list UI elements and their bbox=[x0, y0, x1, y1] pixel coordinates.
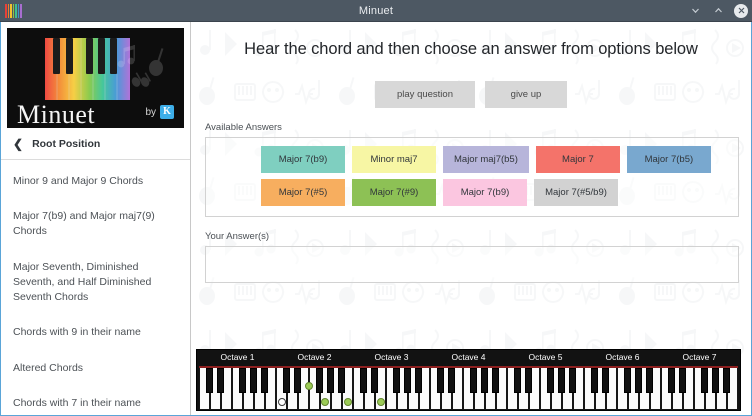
piano-key-marker bbox=[305, 382, 313, 390]
piano-key-marker bbox=[344, 398, 352, 406]
piano-black-key[interactable] bbox=[327, 368, 334, 393]
piano-black-key[interactable] bbox=[437, 368, 444, 393]
piano-black-key[interactable] bbox=[338, 368, 345, 393]
piano-black-key[interactable] bbox=[393, 368, 400, 393]
answer-row-0: Major 7(b9)Minor maj7Major maj7(b5)Major… bbox=[214, 146, 730, 173]
piano-black-key[interactable] bbox=[514, 368, 521, 393]
piano-black-key[interactable] bbox=[602, 368, 609, 393]
piano-black-key[interactable] bbox=[712, 368, 719, 393]
logo-wordmark: Minuet bbox=[17, 100, 95, 128]
answer-chip[interactable]: Major 7 bbox=[536, 146, 620, 173]
window-body: Minuet by K ❮ Root Position Minor 9 and … bbox=[0, 22, 752, 416]
application-window: Minuet bbox=[0, 0, 752, 416]
your-answers-label: Your Answer(s) bbox=[205, 231, 739, 242]
sidebar-header-title: Root Position bbox=[32, 138, 100, 150]
piano-black-key[interactable] bbox=[261, 368, 268, 393]
available-answers-box[interactable]: Major 7(b9)Minor maj7Major maj7(b5)Major… bbox=[205, 137, 739, 217]
minimize-icon[interactable] bbox=[688, 4, 702, 18]
chevron-left-icon[interactable]: ❮ bbox=[13, 138, 23, 150]
page-title: Hear the chord and then choose an answer… bbox=[191, 22, 751, 59]
available-answers-label: Available Answers bbox=[205, 122, 739, 133]
piano-black-key[interactable] bbox=[646, 368, 653, 393]
window-title: Minuet bbox=[0, 5, 752, 17]
music-decoration-icon bbox=[112, 42, 174, 90]
sidebar-item-label: Major 7(b9) and Major maj7(9) Chords bbox=[13, 210, 155, 237]
sidebar: Minuet by K ❮ Root Position Minor 9 and … bbox=[1, 22, 191, 415]
give-up-button[interactable]: give up bbox=[485, 81, 567, 108]
answer-chip[interactable]: Major 7(b9) bbox=[443, 179, 527, 206]
answer-chip[interactable]: Major 7(b5) bbox=[627, 146, 711, 173]
sidebar-item-label: Major Seventh, Diminished Seventh, and H… bbox=[13, 261, 151, 303]
logo-by-kde: by K bbox=[145, 105, 174, 119]
piano-black-key[interactable] bbox=[481, 368, 488, 393]
piano-black-key[interactable] bbox=[250, 368, 257, 393]
sidebar-item-3[interactable]: Chords with 9 in their name bbox=[1, 315, 190, 350]
sidebar-item-1[interactable]: Major 7(b9) and Major maj7(9) Chords bbox=[1, 199, 190, 249]
piano-black-key[interactable] bbox=[723, 368, 730, 393]
answer-chip[interactable]: Major maj7(b5) bbox=[443, 146, 529, 173]
piano-black-key[interactable] bbox=[239, 368, 246, 393]
answer-chip[interactable]: Minor maj7 bbox=[352, 146, 436, 173]
piano-black-key[interactable] bbox=[635, 368, 642, 393]
window-controls bbox=[688, 4, 748, 18]
piano-black-key[interactable] bbox=[492, 368, 499, 393]
kde-logo-icon: K bbox=[160, 105, 174, 119]
sidebar-item-label: Chords with 7 in their name bbox=[13, 397, 141, 409]
sidebar-item-label: Chords with 9 in their name bbox=[13, 326, 141, 338]
close-icon[interactable] bbox=[734, 4, 748, 18]
answer-chip[interactable]: Major 7(b9) bbox=[261, 146, 345, 173]
answer-chip[interactable]: Major 7(#5) bbox=[261, 179, 345, 206]
piano-black-key[interactable] bbox=[294, 368, 301, 393]
piano-black-key[interactable] bbox=[668, 368, 675, 393]
piano-black-key[interactable] bbox=[360, 368, 367, 393]
piano-black-key[interactable] bbox=[470, 368, 477, 393]
piano-black-key[interactable] bbox=[547, 368, 554, 393]
action-buttons: play question give up bbox=[191, 81, 751, 108]
piano-black-key[interactable] bbox=[371, 368, 378, 393]
your-answers-section: Your Answer(s) bbox=[205, 231, 739, 283]
piano-key-marker bbox=[278, 398, 286, 406]
piano-black-key[interactable] bbox=[217, 368, 224, 393]
piano-black-key[interactable] bbox=[448, 368, 455, 393]
maximize-icon[interactable] bbox=[711, 4, 725, 18]
piano-black-key[interactable] bbox=[283, 368, 290, 393]
sidebar-item-label: Minor 9 and Major 9 Chords bbox=[13, 175, 143, 187]
title-bar: Minuet bbox=[0, 0, 752, 22]
piano-black-key[interactable] bbox=[206, 368, 213, 393]
answer-chip[interactable]: Major 7(#9) bbox=[352, 179, 436, 206]
by-label: by bbox=[145, 107, 156, 118]
main-panel: Hear the chord and then choose an answer… bbox=[191, 22, 751, 415]
piano-black-key[interactable] bbox=[591, 368, 598, 393]
piano-black-key[interactable] bbox=[404, 368, 411, 393]
piano-black-key[interactable] bbox=[569, 368, 576, 393]
available-answers-section: Available Answers Major 7(b9)Minor maj7M… bbox=[205, 122, 739, 217]
piano-black-key[interactable] bbox=[624, 368, 631, 393]
piano-key-marker bbox=[377, 398, 385, 406]
sidebar-item-label: Altered Chords bbox=[13, 362, 83, 374]
piano-black-key[interactable] bbox=[415, 368, 422, 393]
piano-black-key[interactable] bbox=[558, 368, 565, 393]
piano-black-key[interactable] bbox=[701, 368, 708, 393]
piano-black-key[interactable] bbox=[525, 368, 532, 393]
your-answers-box[interactable] bbox=[205, 246, 739, 283]
app-logo-banner: Minuet by K bbox=[7, 28, 184, 128]
sidebar-header[interactable]: ❮ Root Position bbox=[1, 128, 190, 160]
sidebar-item-5[interactable]: Chords with 7 in their name bbox=[1, 386, 190, 415]
answer-chip[interactable]: Major 7(#5/b9) bbox=[534, 179, 618, 206]
piano-black-key[interactable] bbox=[316, 368, 323, 393]
sidebar-item-list[interactable]: Minor 9 and Major 9 ChordsMajor 7(b9) an… bbox=[1, 160, 190, 415]
play-question-button[interactable]: play question bbox=[375, 81, 475, 108]
sidebar-item-2[interactable]: Major Seventh, Diminished Seventh, and H… bbox=[1, 250, 190, 316]
sidebar-item-0[interactable]: Minor 9 and Major 9 Chords bbox=[1, 164, 190, 199]
answer-row-1: Major 7(#5)Major 7(#9)Major 7(b9)Major 7… bbox=[214, 179, 730, 206]
piano-black-key[interactable] bbox=[679, 368, 686, 393]
sidebar-item-4[interactable]: Altered Chords bbox=[1, 351, 190, 386]
